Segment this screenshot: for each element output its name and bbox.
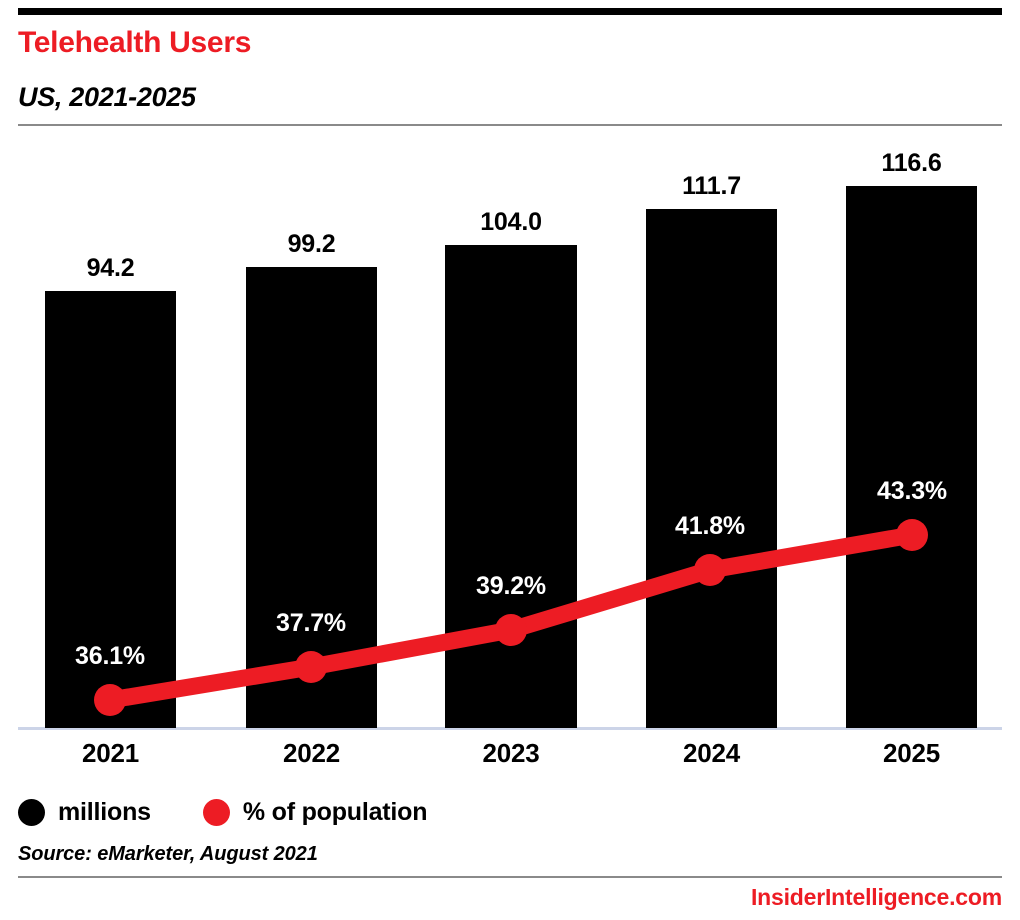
legend-item-percent-of-population[interactable]: % of population [203, 798, 427, 827]
bar-value-label: 94.2 [45, 254, 176, 283]
percent-value-label: 41.8% [630, 512, 790, 541]
legend-item-millions[interactable]: millions [18, 798, 151, 827]
source-note: Source: eMarketer, August 2021 [18, 843, 318, 866]
chart-figure: Telehealth Users US, 2021-2025 94.299.21… [0, 0, 1020, 920]
footer-divider [18, 876, 1002, 878]
percent-value-label: 43.3% [832, 477, 992, 506]
x-tick-2024: 2024 [646, 738, 777, 769]
x-tick-2021: 2021 [45, 738, 176, 769]
percent-value-label: 36.1% [30, 642, 190, 671]
percent-value-label: 39.2% [431, 572, 591, 601]
bar-2025 [846, 186, 977, 728]
plot-area: 94.299.2104.0111.7116.6 36.1%37.7%39.2%4… [0, 0, 1020, 790]
bar-value-label: 111.7 [646, 172, 777, 201]
x-tick-2023: 2023 [445, 738, 577, 769]
bar-value-label: 104.0 [445, 208, 577, 237]
x-tick-2022: 2022 [246, 738, 377, 769]
bar-value-label: 116.6 [846, 149, 977, 178]
bar-2024 [646, 209, 777, 728]
legend: millions% of population [18, 792, 479, 832]
legend-circle-icon [203, 799, 230, 826]
legend-circle-icon [18, 799, 45, 826]
bar-2022 [246, 267, 377, 728]
bar-2023 [445, 245, 577, 728]
percent-value-label: 37.7% [231, 609, 391, 638]
bar-value-label: 99.2 [246, 230, 377, 259]
x-tick-2025: 2025 [846, 738, 977, 769]
brand-link[interactable]: InsiderIntelligence.com [751, 884, 1002, 911]
legend-label: millions [58, 798, 151, 827]
legend-label: % of population [243, 798, 427, 827]
